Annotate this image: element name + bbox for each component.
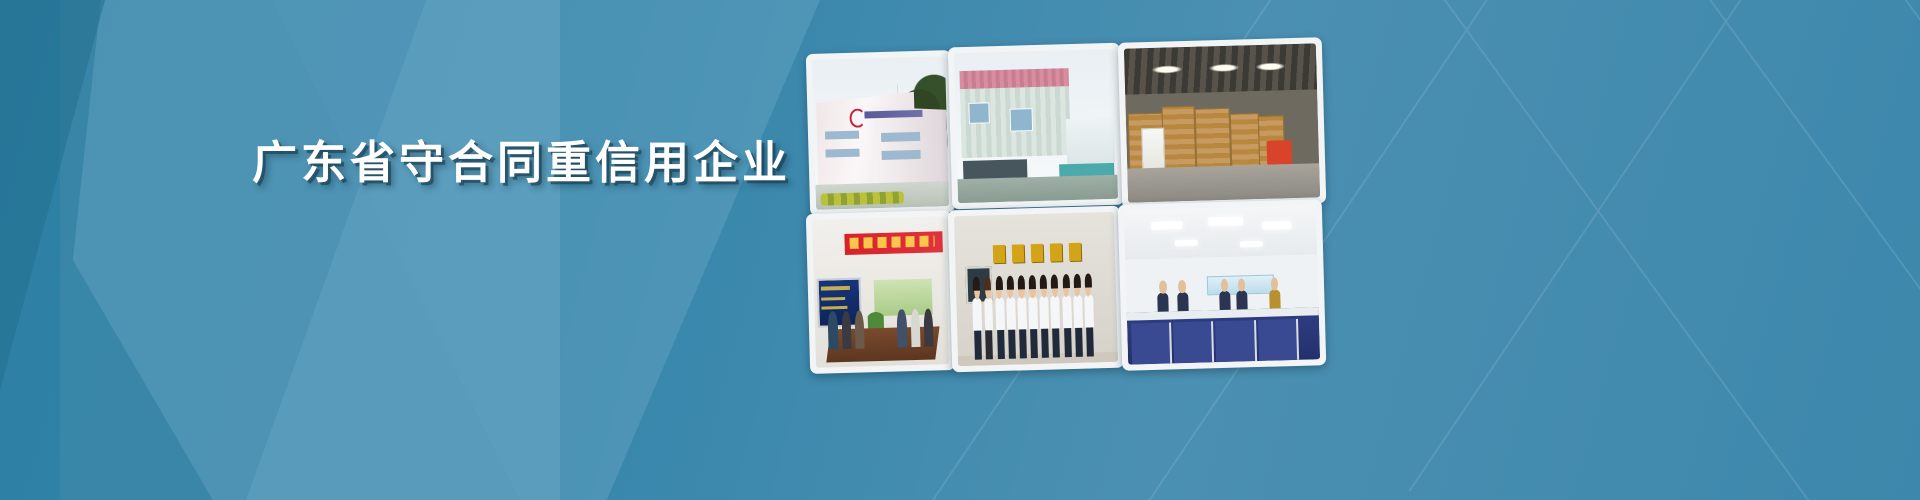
banner-headline: 广东省守合同重信用企业 <box>252 126 791 191</box>
background-polygon-1 <box>0 0 560 500</box>
promo-banner: 广东省守合同重信用企业 <box>0 0 1920 500</box>
background-polygon-4 <box>60 0 520 500</box>
photo-meeting-room <box>806 210 955 374</box>
background-polygon-3 <box>0 0 300 500</box>
photo-gallery <box>800 40 1340 380</box>
photo-factory-exterior <box>806 50 955 216</box>
gallery-reflection <box>800 386 1340 496</box>
background-polygon-2 <box>0 0 820 500</box>
photo-warehouse-exterior <box>948 43 1124 210</box>
photo-warehouse-interior <box>1118 37 1327 209</box>
photo-office-reception <box>1118 199 1327 371</box>
wall-sign-icon <box>993 243 1086 264</box>
photo-staff-group <box>948 206 1124 373</box>
